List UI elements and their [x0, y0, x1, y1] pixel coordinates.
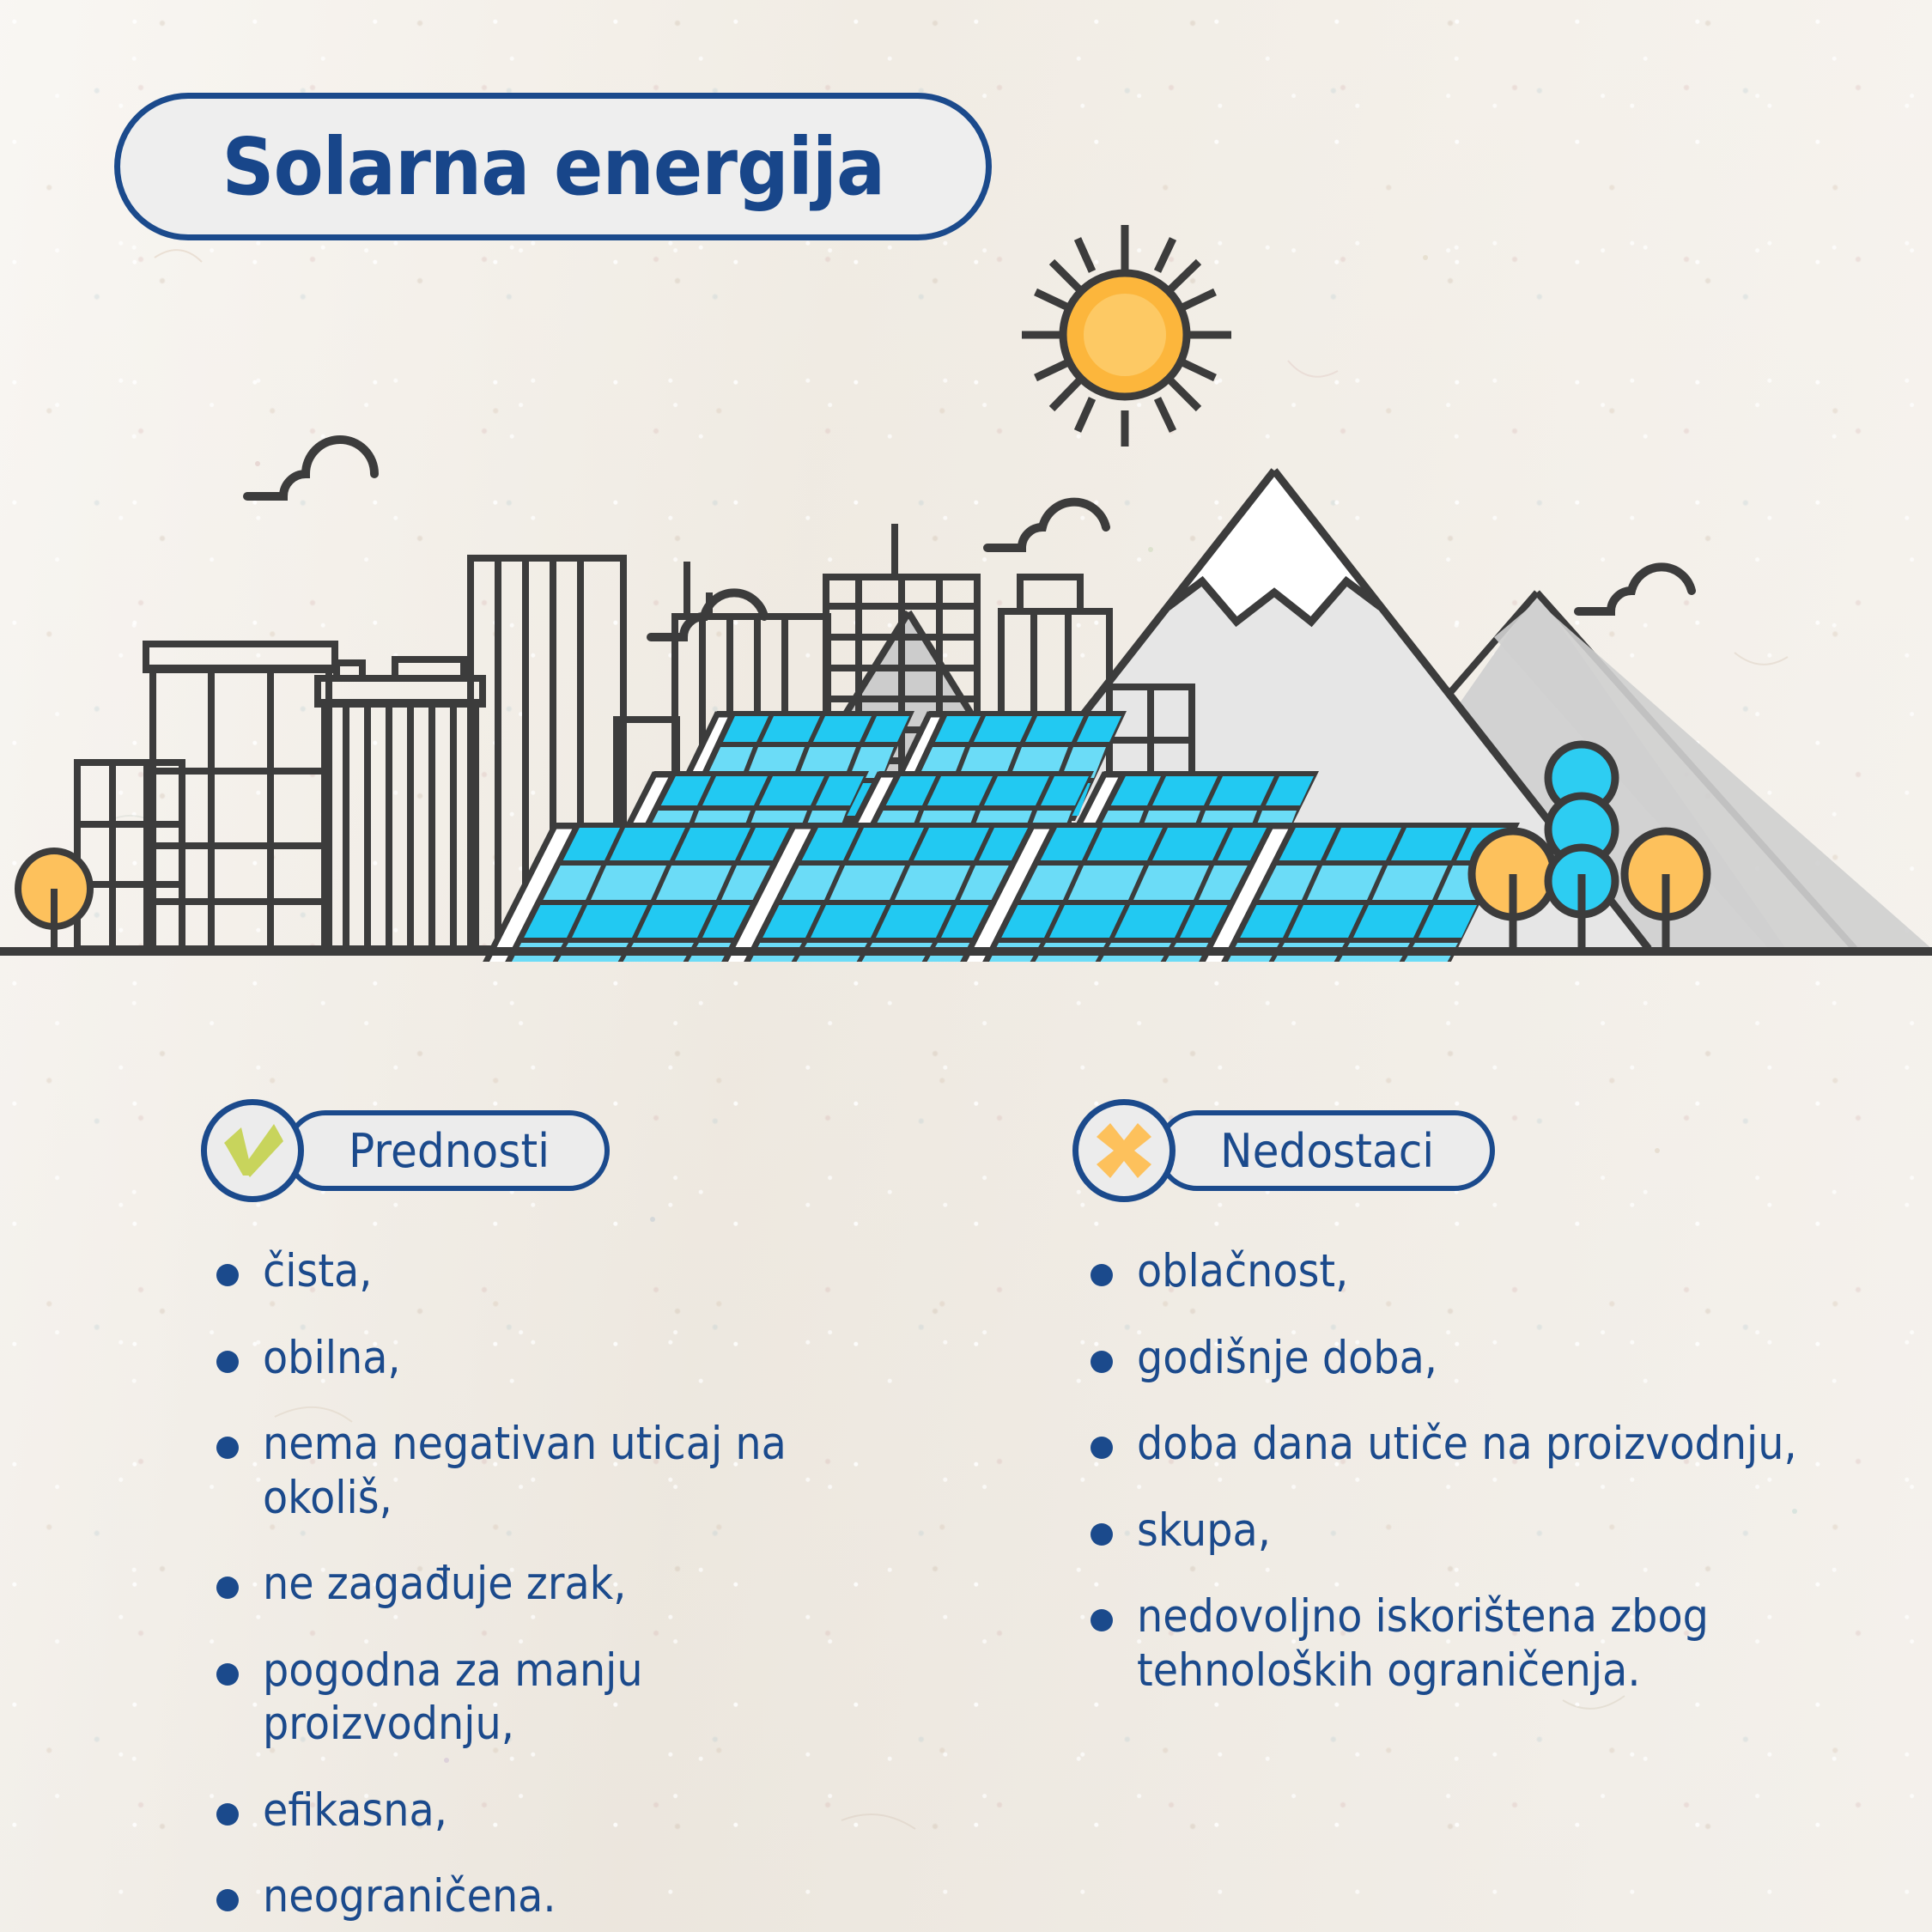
- infographic-root: Solarna energija Prednosti čista, obi: [0, 0, 1932, 1932]
- section-title-pill-prednosti: Prednosti: [285, 1110, 610, 1191]
- section-title-pill-nedostaci: Nedostaci: [1157, 1110, 1495, 1191]
- section-label-prednosti: Prednosti: [349, 1124, 550, 1178]
- x-icon: [1072, 1099, 1176, 1202]
- list-item: skupa,: [1091, 1504, 1889, 1558]
- bullet-icon: [1091, 1523, 1113, 1546]
- section-header-prednosti[interactable]: Prednosti: [201, 1099, 610, 1202]
- list-item: doba dana utiče na proizvodnju,: [1091, 1418, 1889, 1472]
- bullet-icon: [1091, 1351, 1113, 1373]
- list-item-text: ne zagađuje zrak,: [263, 1558, 626, 1612]
- list-item: neograničena.: [216, 1870, 955, 1924]
- list-item: nema negativan uticaj na okoliš,: [216, 1418, 955, 1525]
- bullet-icon: [216, 1437, 239, 1459]
- section-header-nedostaci[interactable]: Nedostaci: [1072, 1099, 1495, 1202]
- bullet-icon: [1091, 1609, 1113, 1631]
- advantages-list: čista, obilna, nema negativan uticaj na …: [216, 1245, 955, 1932]
- bullet-icon: [1091, 1264, 1113, 1286]
- sun-icon: [1022, 225, 1231, 447]
- list-item-text: oblačnost,: [1137, 1245, 1348, 1299]
- list-item-text: obilna,: [263, 1332, 401, 1386]
- page-title-badge: Solarna energija: [114, 93, 992, 240]
- list-item-text: efikasna,: [263, 1784, 447, 1838]
- content-columns: Prednosti čista, obilna, nema negativan …: [0, 962, 1932, 1932]
- list-item-text: nema negativan uticaj na okoliš,: [263, 1418, 885, 1525]
- bullet-icon: [216, 1889, 239, 1911]
- bullet-icon: [216, 1663, 239, 1686]
- bullet-icon: [216, 1264, 239, 1286]
- cloud-icon: [987, 502, 1106, 548]
- list-item: efikasna,: [216, 1784, 955, 1838]
- list-item-text: nedovoljno iskorištena zbog tehnoloških …: [1137, 1590, 1709, 1698]
- disadvantages-list: oblačnost, godišnje doba, doba dana utič…: [1091, 1245, 1889, 1730]
- list-item: oblačnost,: [1091, 1245, 1889, 1299]
- cloud-icon: [247, 440, 374, 496]
- cloud-icon: [1578, 567, 1692, 611]
- list-item-text: neograničena.: [263, 1870, 556, 1924]
- bullet-icon: [1091, 1437, 1113, 1459]
- bullet-icon: [216, 1577, 239, 1599]
- check-glyph: [220, 1121, 285, 1181]
- bullet-icon: [216, 1351, 239, 1373]
- list-item-text: skupa,: [1137, 1504, 1271, 1558]
- list-item: ne zagađuje zrak,: [216, 1558, 955, 1612]
- list-item-text: doba dana utiče na proizvodnju,: [1137, 1418, 1797, 1472]
- list-item-text: godišnje doba,: [1137, 1332, 1437, 1386]
- x-glyph: [1093, 1120, 1155, 1182]
- list-item: pogodna za manju proizvodnju,: [216, 1644, 955, 1752]
- list-item: obilna,: [216, 1332, 955, 1386]
- bullet-icon: [216, 1803, 239, 1826]
- list-item: čista,: [216, 1245, 955, 1299]
- list-item: godišnje doba,: [1091, 1332, 1889, 1386]
- check-icon: [201, 1099, 304, 1202]
- section-label-nedostaci: Nedostaci: [1220, 1124, 1434, 1178]
- list-item-text: pogodna za manju proizvodnju,: [263, 1644, 885, 1752]
- list-item: nedovoljno iskorištena zbog tehnoloških …: [1091, 1590, 1889, 1698]
- page-title: Solarna energija: [222, 121, 884, 213]
- list-item-text: čista,: [263, 1245, 372, 1299]
